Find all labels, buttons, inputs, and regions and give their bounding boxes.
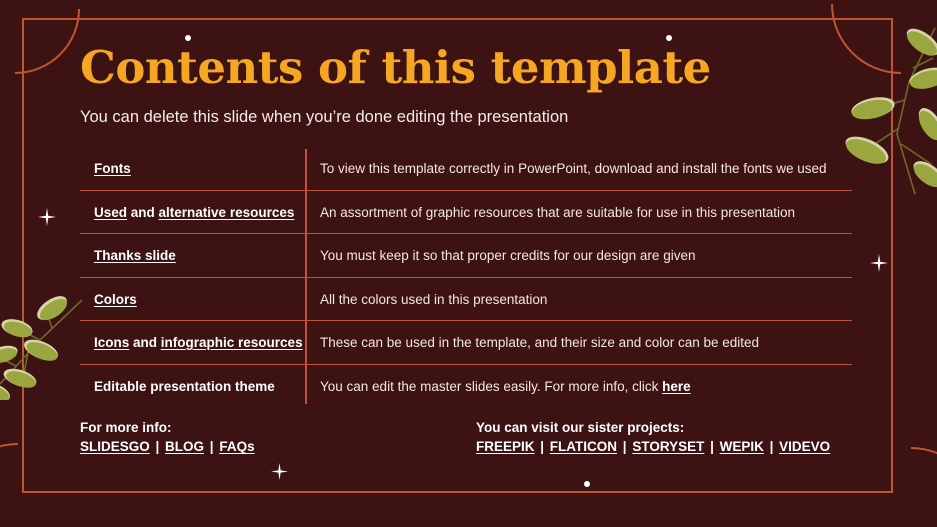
table-row-label-link[interactable]: Colors (94, 292, 137, 307)
table-row-label[interactable]: Icons and infographic resources (80, 335, 305, 350)
slide-content: Contents of this template You can delete… (80, 44, 855, 454)
slide-canvas: Contents of this template You can delete… (0, 0, 937, 527)
table-row-label-text: and (127, 205, 159, 220)
table-row-label-link[interactable]: alternative resources (159, 205, 295, 220)
table-row-label-text: and (129, 335, 161, 350)
footer-link-blog[interactable]: BLOG (165, 439, 204, 454)
table-row-description-text: You must keep it so that proper credits … (320, 248, 695, 263)
footer-link-flaticon[interactable]: FLATICON (550, 439, 617, 454)
table-row-description-text: An assortment of graphic resources that … (320, 205, 795, 220)
contents-table: FontsTo view this template correctly in … (80, 147, 852, 407)
table-row: Thanks slideYou must keep it so that pro… (80, 234, 852, 278)
table-row-description: You must keep it so that proper credits … (305, 248, 852, 263)
footer-left-group: For more info: SLIDESGO | BLOG | FAQs (80, 420, 476, 454)
footer-link-storyset[interactable]: STORYSET (632, 439, 704, 454)
table-row-description-text: You can edit the master slides easily. F… (320, 379, 662, 394)
table-row-description-text: These can be used in the template, and t… (320, 335, 759, 350)
slide-footer: For more info: SLIDESGO | BLOG | FAQs Yo… (80, 420, 855, 454)
table-row-label-link[interactable]: Fonts (94, 161, 131, 176)
footer-link-separator: | (150, 439, 165, 454)
table-row-description-link[interactable]: here (662, 379, 691, 394)
footer-right-links: FREEPIK | FLATICON | STORYSET | WEPIK | … (476, 439, 855, 454)
footer-link-separator: | (704, 439, 719, 454)
sparkle-icon-bottom-center (271, 463, 288, 480)
table-row: Used and alternative resourcesAn assortm… (80, 191, 852, 235)
table-row: FontsTo view this template correctly in … (80, 147, 852, 191)
footer-left-heading: For more info: (80, 420, 476, 435)
sparkle-icon-left-middle (38, 208, 56, 226)
table-row: Icons and infographic resourcesThese can… (80, 321, 852, 365)
footer-link-separator: | (535, 439, 550, 454)
footer-link-wepik[interactable]: WEPIK (720, 439, 764, 454)
table-row-description-text: All the colors used in this presentation (320, 292, 547, 307)
table-row-label-link[interactable]: Used (94, 205, 127, 220)
sparkle-icon-right-middle (870, 254, 888, 272)
footer-link-freepik[interactable]: FREEPIK (476, 439, 535, 454)
table-row-label-link[interactable]: Icons (94, 335, 129, 350)
table-row-description-text: To view this template correctly in Power… (320, 161, 827, 176)
footer-link-separator: | (617, 439, 632, 454)
footer-link-separator: | (204, 439, 219, 454)
table-row-description: You can edit the master slides easily. F… (305, 379, 852, 394)
table-row: ColorsAll the colors used in this presen… (80, 278, 852, 322)
footer-right-group: You can visit our sister projects: FREEP… (476, 420, 855, 454)
table-row-label-text: Editable presentation theme (94, 379, 275, 394)
table-row-description: All the colors used in this presentation (305, 292, 852, 307)
table-row-label[interactable]: Colors (80, 292, 305, 307)
footer-link-videvo[interactable]: VIDEVO (779, 439, 830, 454)
dot-accent-bottom-center (584, 481, 590, 487)
table-row-description: To view this template correctly in Power… (305, 161, 852, 176)
table-row-label-link[interactable]: infographic resources (161, 335, 303, 350)
footer-link-faqs[interactable]: FAQs (219, 439, 254, 454)
table-row-label[interactable]: Used and alternative resources (80, 205, 305, 220)
table-row-label[interactable]: Thanks slide (80, 248, 305, 263)
table-row-description: These can be used in the template, and t… (305, 335, 852, 350)
page-subtitle: You can delete this slide when you’re do… (80, 108, 855, 127)
leaf-sprig-left-icon (0, 288, 86, 400)
footer-left-links: SLIDESGO | BLOG | FAQs (80, 439, 476, 454)
table-row-label-link[interactable]: Thanks slide (94, 248, 176, 263)
table-row-label[interactable]: Fonts (80, 161, 305, 176)
footer-link-slidesgo[interactable]: SLIDESGO (80, 439, 150, 454)
footer-right-heading: You can visit our sister projects: (476, 420, 855, 435)
footer-link-separator: | (764, 439, 779, 454)
table-row: Editable presentation themeYou can edit … (80, 365, 852, 408)
table-row-label[interactable]: Editable presentation theme (80, 379, 305, 394)
table-column-separator (305, 149, 307, 404)
page-title: Contents of this template (80, 44, 855, 91)
table-row-description: An assortment of graphic resources that … (305, 205, 852, 220)
